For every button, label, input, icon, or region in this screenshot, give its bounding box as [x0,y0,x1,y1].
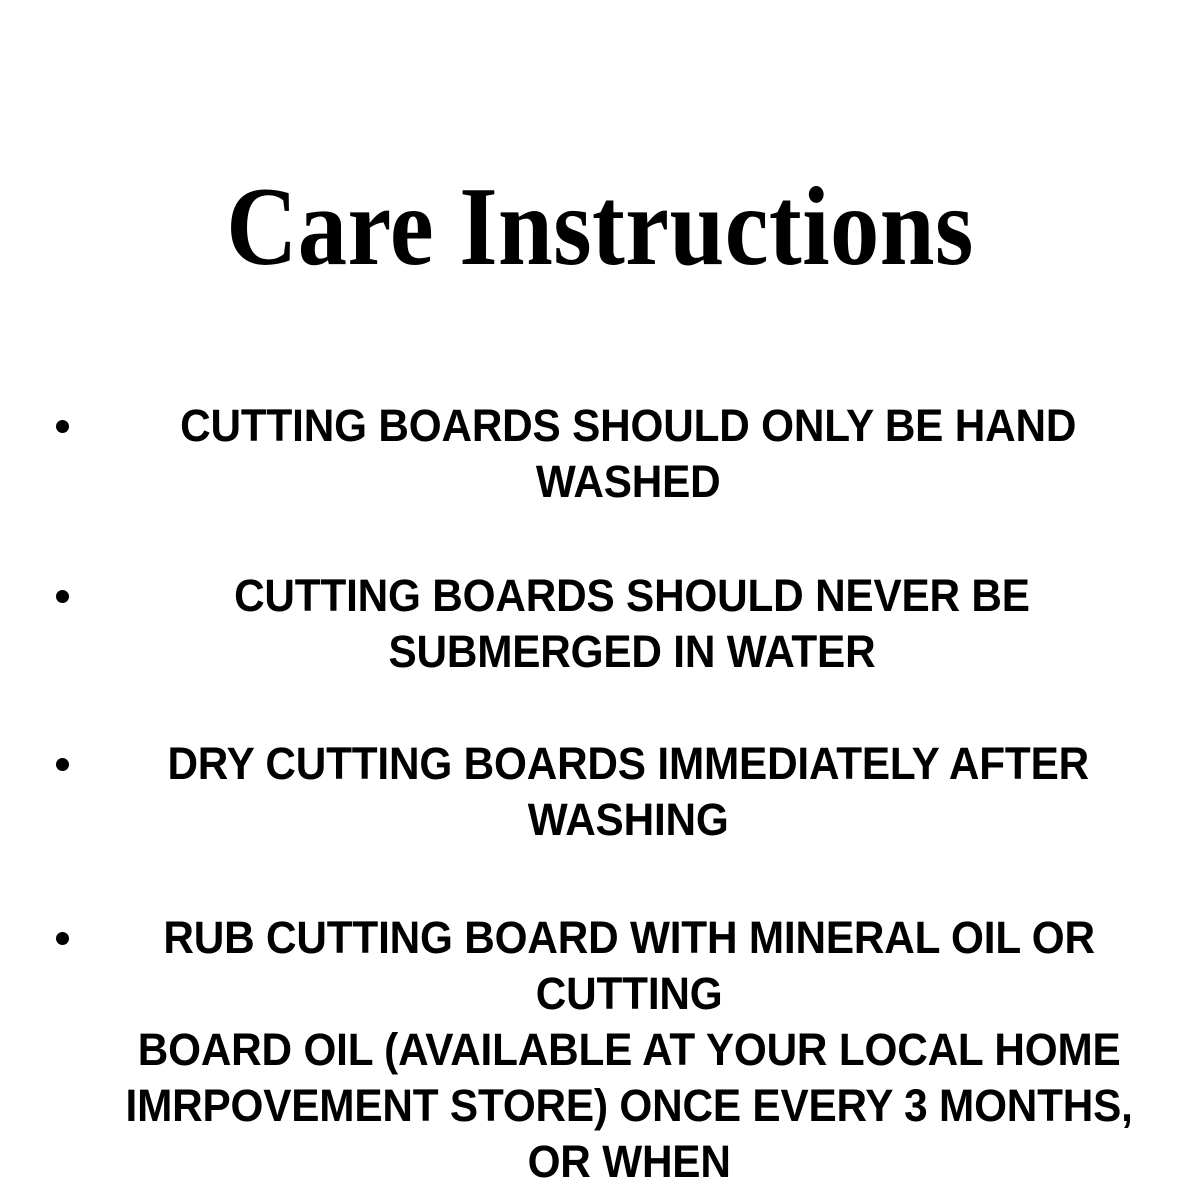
list-item-label: CUTTING BOARDS SHOULD ONLY BE HAND WASHE… [36,398,1164,510]
list-item: DRY CUTTING BOARDS IMMEDIATELY AFTER WAS… [0,736,1200,848]
list-item-label: RUB CUTTING BOARD WITH MINERAL OIL OR CU… [36,910,1164,1200]
list-item-label: CUTTING BOARDS SHOULD NEVER BE SUBMERGED… [36,568,1164,680]
list-item-label: DRY CUTTING BOARDS IMMEDIATELY AFTER WAS… [36,736,1164,848]
list-item-line: WOOD APPEARS DRY [117,1190,1142,1200]
page-title: Care Instructions [72,167,1128,288]
list-item: RUB CUTTING BOARD WITH MINERAL OIL OR CU… [0,910,1200,1200]
care-instructions-list: CUTTING BOARDS SHOULD ONLY BE HAND WASHE… [0,398,1200,1200]
list-item: CUTTING BOARDS SHOULD ONLY BE HAND WASHE… [0,398,1200,510]
care-instructions-slide: Care Instructions CUTTING BOARDS SHOULD … [0,0,1200,1200]
list-item: CUTTING BOARDS SHOULD NEVER BE SUBMERGED… [0,568,1200,680]
list-item-line: RUB CUTTING BOARD WITH MINERAL OIL OR CU… [117,910,1142,1022]
list-item-line: BOARD OIL (AVAILABLE AT YOUR LOCAL HOME [117,1022,1142,1078]
list-item-line: IMRPOVEMENT STORE) ONCE EVERY 3 MONTHS, … [117,1078,1142,1190]
